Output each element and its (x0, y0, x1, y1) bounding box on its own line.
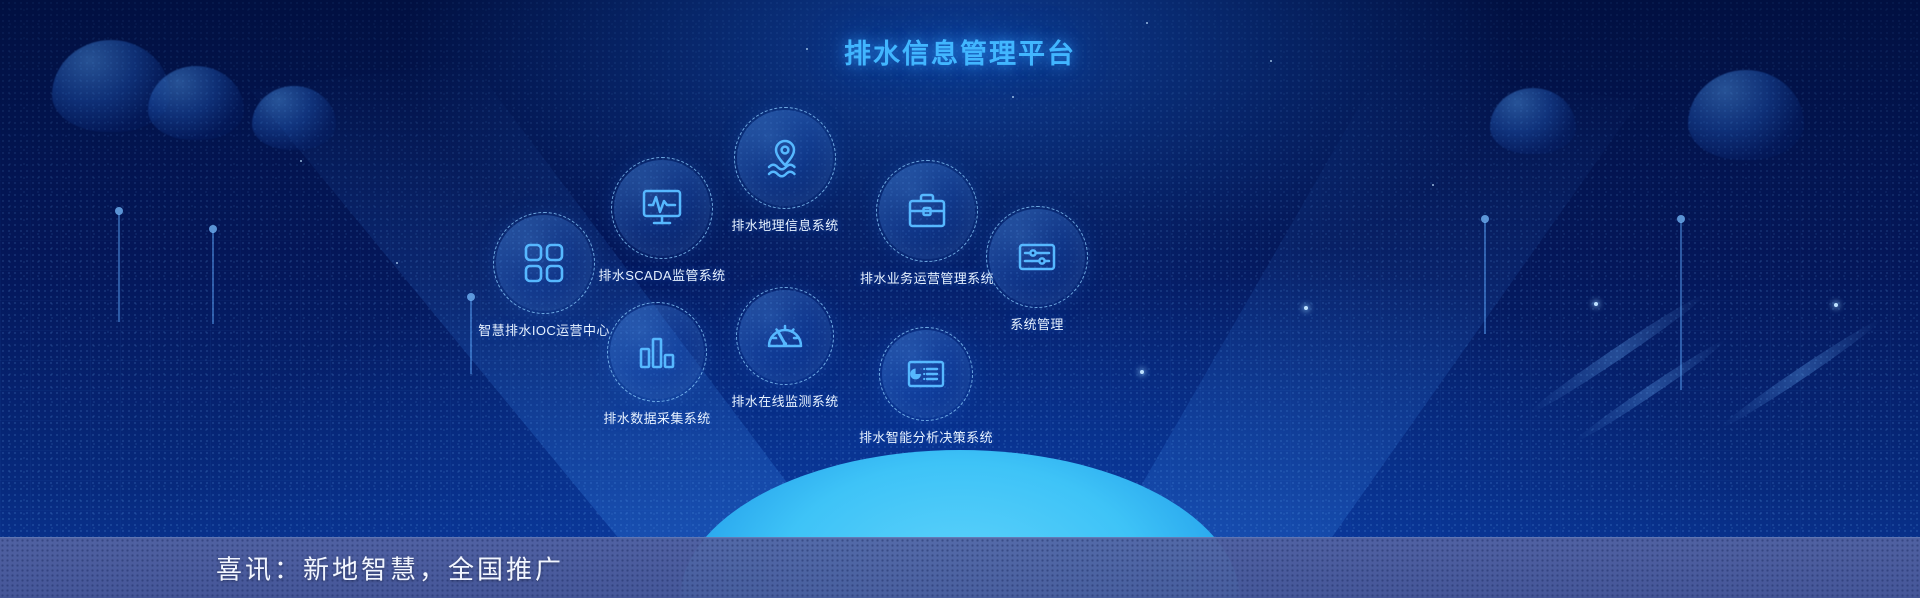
pie-list-icon (905, 353, 947, 395)
node-scada-label: 排水SCADA监管系统 (562, 265, 762, 284)
monitor-waveform-icon (639, 185, 685, 231)
announcement-banner: 喜讯：新地智慧，全国推广 (0, 537, 1920, 598)
sparkle-1 (1594, 302, 1598, 306)
node-analysis[interactable]: 排水智能分析决策系统 (820, 330, 1032, 446)
node-collect-label: 排水数据采集系统 (562, 408, 752, 427)
sparkle-4 (1140, 370, 1144, 374)
marker-pin-left-1 (118, 214, 120, 322)
star-5 (1012, 96, 1014, 98)
node-online-bubble[interactable] (739, 290, 831, 382)
star-4 (300, 160, 302, 162)
page-title: 排水信息管理平台 (0, 32, 1920, 71)
sparkle-2 (1834, 303, 1838, 307)
briefcase-icon (905, 189, 949, 233)
marker-pin-left-2 (212, 232, 214, 324)
star-2 (1146, 22, 1148, 24)
star-7 (1432, 184, 1434, 186)
node-analysis-label: 排水智能分析决策系统 (820, 427, 1032, 446)
sliders-icon (1015, 235, 1059, 279)
node-sysmgmt[interactable]: 系统管理 (944, 209, 1130, 333)
sparkle-3 (1304, 306, 1308, 310)
gauge-icon (763, 314, 807, 358)
node-analysis-bubble[interactable] (882, 330, 970, 418)
dashboard-background: 排水信息管理平台 智慧排水IOC运营中心 (0, 0, 1920, 598)
marker-pin-right-1 (1484, 222, 1486, 334)
grid-icon (522, 241, 566, 285)
star-6 (396, 262, 398, 264)
map-pin-water-icon (762, 135, 808, 181)
announcement-text: 喜讯：新地智慧，全国推广 (216, 550, 564, 587)
node-sysmgmt-bubble[interactable] (989, 209, 1085, 305)
bar-chart-icon (636, 331, 678, 373)
